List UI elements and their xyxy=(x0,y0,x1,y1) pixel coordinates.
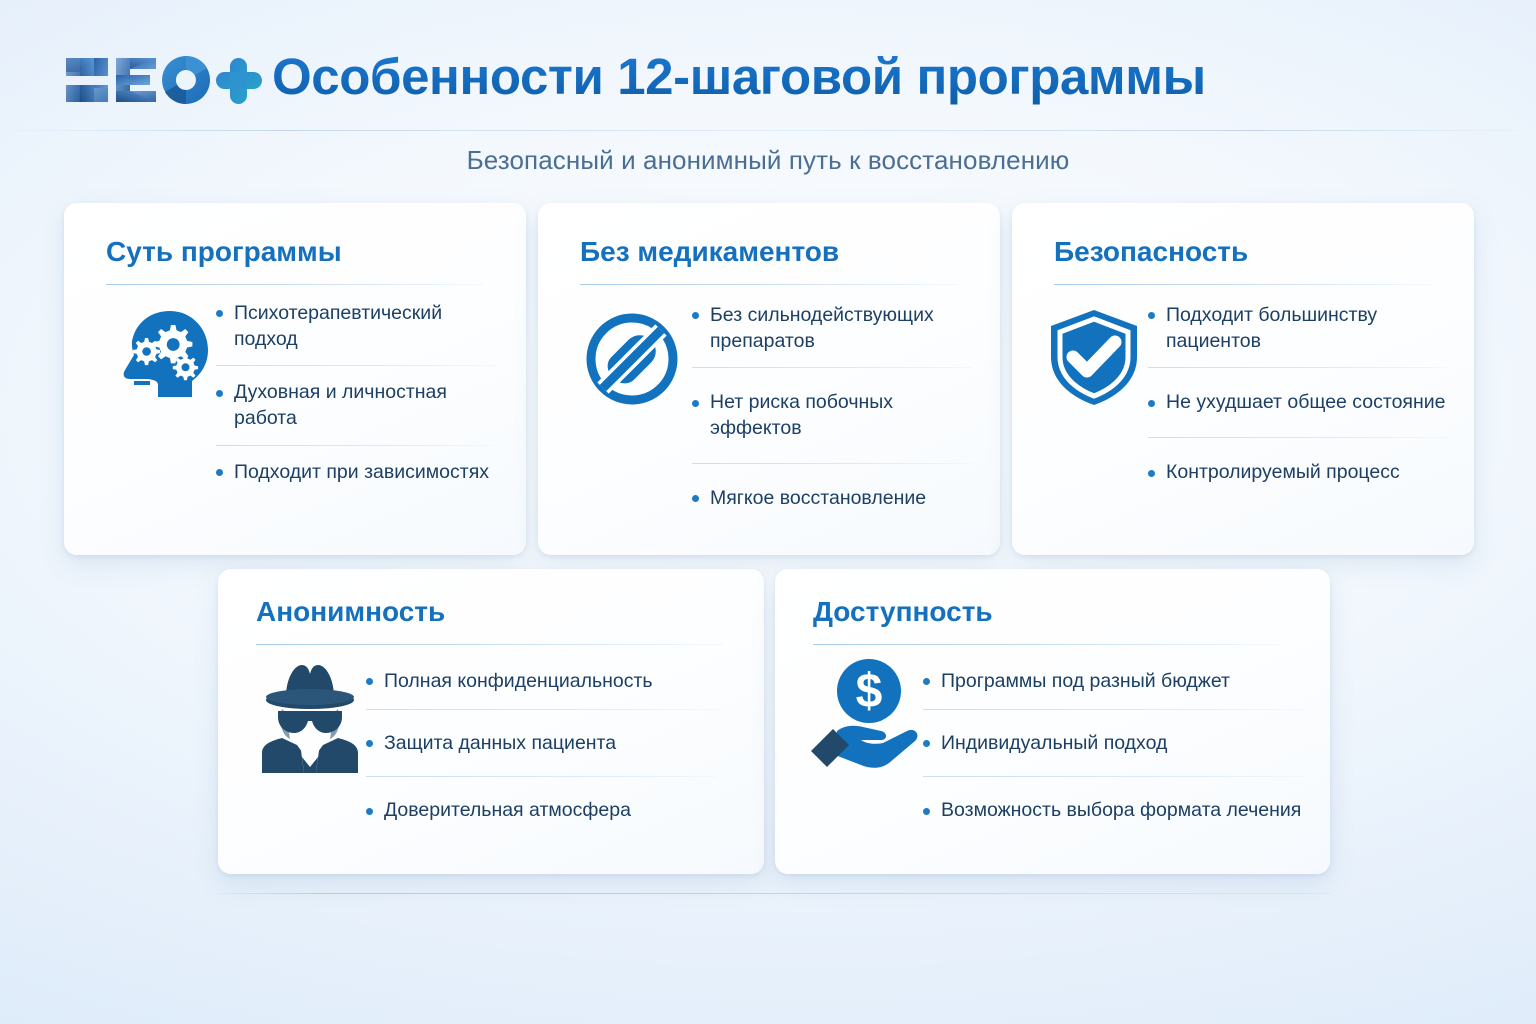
list-item[interactable]: Контролируемый процесс xyxy=(1148,438,1448,486)
list-item[interactable]: Индивидуальный подход xyxy=(923,710,1305,777)
infographic-canvas: Особенности 12-шаговой программы Безопас… xyxy=(0,0,1536,1024)
hand-coin-icon: $ xyxy=(803,655,925,775)
card-title: Безопасность xyxy=(1054,236,1248,268)
card-bezopasnost[interactable]: Безопасность Подходит большинству пациен… xyxy=(1012,203,1474,555)
list-item[interactable]: Полная конфиденциальность xyxy=(366,669,716,709)
header-divider xyxy=(0,130,1536,131)
bullet-text: Доверительная атмосфера xyxy=(384,798,631,824)
shield-check-icon xyxy=(1042,305,1146,409)
bullet-text: Защита данных пациента xyxy=(384,731,616,757)
card-title: Доступность xyxy=(813,596,993,628)
card-title-underline xyxy=(580,284,958,285)
card-bullets: Полная конфиденциальность Защита данных … xyxy=(366,669,716,824)
card-title: Без медикаментов xyxy=(580,236,839,268)
bullet-text: Возможность выбора формата лечения xyxy=(941,798,1301,824)
bullet-text: Контролируемый процесс xyxy=(1166,460,1400,486)
bullet-text: Индивидуальный подход xyxy=(941,731,1167,757)
list-item[interactable]: Без сильнодействующих препаратов xyxy=(692,303,972,367)
bullet-text: Психотерапевтический подход xyxy=(234,301,494,352)
card-bez-medikamentov[interactable]: Без медикаментов Без сильнодействующих п… xyxy=(538,203,1000,555)
card-title-underline xyxy=(1054,284,1432,285)
neo-plus-logo xyxy=(64,52,264,110)
card-title-underline xyxy=(256,644,724,645)
bullet-dot xyxy=(366,740,373,747)
card-sut-programmy[interactable]: Суть программы xyxy=(64,203,526,555)
bullet-dot xyxy=(216,390,223,397)
bullet-dot xyxy=(692,400,699,407)
header: Особенности 12-шаговой программы xyxy=(0,0,1536,131)
bullet-dot xyxy=(216,310,223,317)
incognito-spy-icon xyxy=(252,653,368,779)
bullet-text: Без сильнодействующих препаратов xyxy=(710,303,972,354)
bullet-text: Полная конфиденциальность xyxy=(384,669,653,695)
bullet-dot xyxy=(692,495,699,502)
no-pills-icon xyxy=(580,307,684,411)
list-item[interactable]: Духовная и личностная работа xyxy=(216,366,494,444)
bullet-text: Программы под разный бюджет xyxy=(941,669,1230,695)
footer-divider xyxy=(218,893,1330,894)
page-subtitle: Безопасный и анонимный путь к восстановл… xyxy=(0,145,1536,176)
card-anonimnost[interactable]: Анонимность xyxy=(218,569,764,874)
bullet-text: Духовная и личностная работа xyxy=(234,380,494,431)
list-item[interactable]: Психотерапевтический подход xyxy=(216,301,494,365)
list-item[interactable]: Подходит большинству пациентов xyxy=(1148,303,1448,367)
list-item[interactable]: Защита данных пациента xyxy=(366,710,716,777)
card-title: Суть программы xyxy=(106,236,342,268)
bullet-text: Нет риска побочных эффектов xyxy=(710,390,972,441)
card-bullets: Программы под разный бюджет Индивидуальн… xyxy=(923,669,1305,824)
bullet-text: Мягкое восстановление xyxy=(710,486,926,512)
list-item[interactable]: Нет риска побочных эффектов xyxy=(692,368,972,462)
bullet-dot xyxy=(1148,470,1155,477)
card-bullets: Без сильнодействующих препаратов Нет рис… xyxy=(692,303,972,512)
page-title: Особенности 12-шаговой программы xyxy=(272,47,1206,106)
bullet-text: Не ухудшает общее состояние xyxy=(1166,390,1446,416)
card-title-underline xyxy=(106,284,484,285)
bullet-dot xyxy=(692,312,699,319)
card-title: Анонимность xyxy=(256,596,445,628)
bullet-text: Подходит большинству пациентов xyxy=(1166,303,1448,354)
bullet-dot xyxy=(923,678,930,685)
card-bullets: Подходит большинству пациентов Не ухудша… xyxy=(1148,303,1448,486)
list-item[interactable]: Мягкое восстановление xyxy=(692,464,972,512)
list-item[interactable]: Доверительная атмосфера xyxy=(366,777,716,824)
list-item[interactable]: Возможность выбора формата лечения xyxy=(923,777,1305,824)
list-item[interactable]: Подходит при зависимостях xyxy=(216,446,494,486)
bullet-dot xyxy=(366,808,373,815)
bullet-dot xyxy=(216,469,223,476)
card-title-underline xyxy=(813,644,1281,645)
card-dostupnost[interactable]: Доступность $ Программы под разный бюдже… xyxy=(775,569,1330,874)
bullet-dot xyxy=(923,740,930,747)
bullet-dot xyxy=(1148,312,1155,319)
head-gears-icon xyxy=(112,305,216,409)
svg-text:$: $ xyxy=(856,665,883,718)
card-bullets: Психотерапевтический подход Духовная и л… xyxy=(216,301,494,486)
list-item[interactable]: Не ухудшает общее состояние xyxy=(1148,368,1448,437)
bullet-text: Подходит при зависимостях xyxy=(234,460,489,486)
bullet-dot xyxy=(366,678,373,685)
bullet-dot xyxy=(1148,400,1155,407)
list-item[interactable]: Программы под разный бюджет xyxy=(923,669,1305,709)
bullet-dot xyxy=(923,808,930,815)
